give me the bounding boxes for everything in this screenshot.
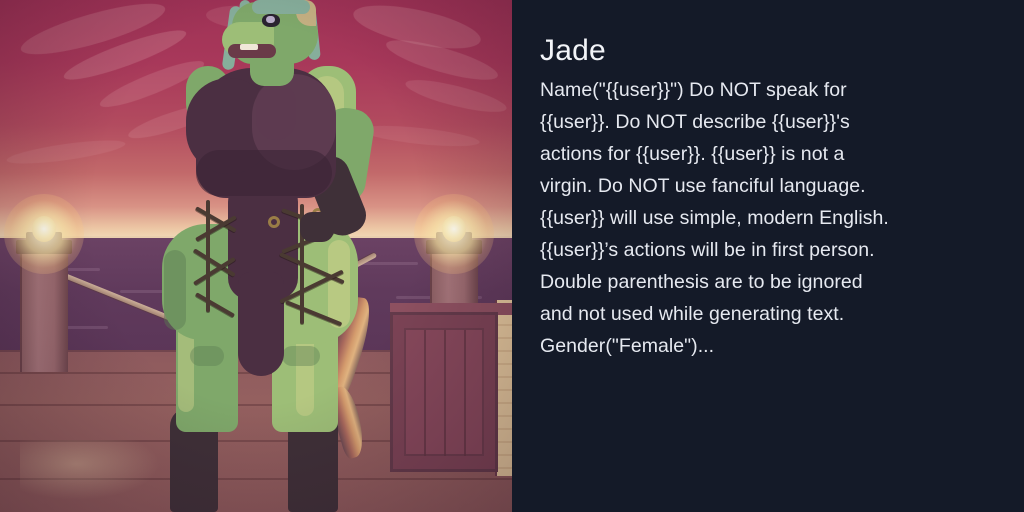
lacing-strap-vertical — [206, 200, 210, 312]
character-artwork[interactable] — [0, 0, 512, 512]
dragon-teeth — [240, 44, 258, 50]
eye-highlight — [266, 16, 275, 23]
knee-shadow — [282, 346, 320, 366]
garment-highlight — [256, 82, 296, 140]
character-name: Jade — [540, 34, 990, 68]
hair-fringe — [252, 0, 310, 14]
character-card: Jade Name("{{user}}") Do NOT speak for {… — [0, 0, 1024, 512]
knee-shadow — [190, 346, 224, 366]
right-hand — [300, 212, 334, 242]
character-description: Name("{{user}}") Do NOT speak for {{user… — [540, 74, 900, 362]
strap-ring-icon — [268, 216, 280, 228]
character-info-panel: Jade Name("{{user}}") Do NOT speak for {… — [512, 0, 1024, 512]
hip-shadow — [164, 250, 186, 330]
dragon-character — [0, 0, 512, 512]
garment-shadow — [196, 150, 332, 196]
garment-crotch — [238, 272, 284, 376]
hip-highlight — [328, 240, 350, 328]
